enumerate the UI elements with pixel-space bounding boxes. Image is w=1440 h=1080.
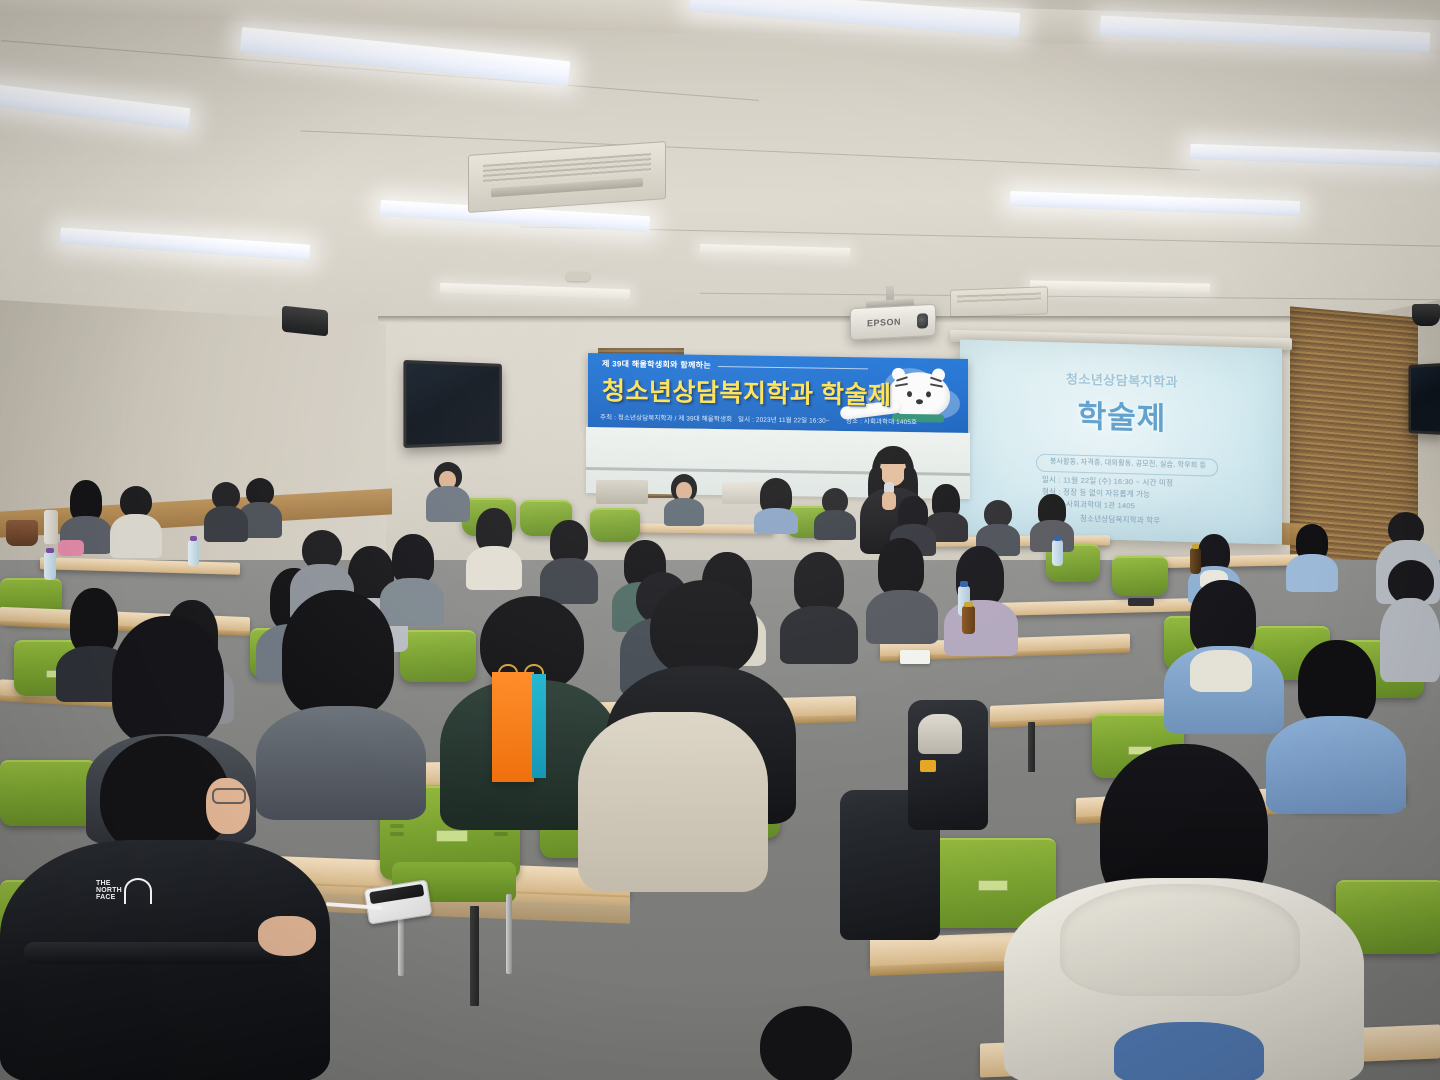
attendee-a3: [814, 488, 856, 538]
attendee-a2: [754, 478, 798, 532]
attendee-a12: [1286, 524, 1338, 590]
smoke-detector-icon: [566, 272, 590, 281]
attendee-l10: [540, 520, 598, 602]
attendee-c3: [866, 538, 938, 642]
attendee-foreground-northface: THENORTHFACE: [0, 736, 350, 1080]
attendee-bottom-center: [730, 1006, 880, 1080]
banner-top-line: 제 39대 해울학생회와 함께하는: [602, 358, 711, 371]
tumbler: [44, 510, 58, 544]
desk-leg-5: [470, 906, 479, 1006]
water-bottle-4: [44, 552, 56, 580]
gift-bag: [492, 664, 548, 784]
attendee-left-2: [110, 486, 162, 556]
ceiling-ac-unit-2: [950, 286, 1048, 317]
attendee-foreground-cream: [578, 672, 768, 892]
ceiling-speaker-left-icon: [282, 306, 328, 337]
banner-footer-place: 장소 : 사회과학대 1405호: [846, 415, 917, 426]
banner-footer-host: 주최 : 청소년상담복지학과 / 제 39대 해울학생회: [600, 411, 732, 423]
lecture-hall-photo: EPSON 청소년상담복지학과 학술제 봉사활동, 자격증, 대외활동, 공모전…: [0, 0, 1440, 1080]
event-banner: 제 39대 해울학생회와 함께하는 청소년상담복지학과 학술제 주최 : 청소년…: [588, 353, 968, 433]
chair-near-1-leg2: [506, 894, 512, 974]
banner-footer-date: 일시 : 2023년 11월 22일 16:30~: [738, 413, 830, 424]
hand: [258, 916, 316, 956]
attendee-c4: [944, 546, 1018, 654]
drink-bottle-2: [962, 606, 975, 634]
eyeglasses-icon: [212, 788, 246, 804]
slide-title: 학술제: [1002, 389, 1242, 441]
water-bottle-5: [188, 540, 199, 566]
water-bottle-3: [1052, 540, 1063, 566]
wall-monitor-left: [403, 360, 502, 448]
drink-bottle-6: [1190, 548, 1201, 574]
desk-item-white: [900, 650, 930, 664]
ceiling: [0, 0, 1440, 330]
desk-item-dark: [1128, 598, 1154, 606]
projector-brand-label: EPSON: [867, 317, 901, 329]
ceiling-speaker-icon: [1412, 304, 1440, 326]
pink-pouch: [58, 540, 84, 556]
attendee-l9: [466, 508, 522, 588]
projector: EPSON: [850, 304, 936, 341]
hoodie-graphic-print: [1114, 1022, 1264, 1080]
banner-main-title: 청소년상담복지학과 학술제: [602, 371, 891, 412]
backpack-2: [908, 700, 988, 830]
attendee-right-grey: [1380, 560, 1440, 680]
attendee-a8: [426, 462, 470, 520]
handbag: [6, 520, 38, 546]
podium: [596, 480, 648, 504]
attendee-a1: [664, 474, 704, 526]
attendee-a10: [204, 482, 248, 540]
hoodie-hood: [1060, 884, 1300, 996]
wall-monitor-right: [1409, 363, 1440, 435]
north-face-logo: THENORTHFACE: [96, 876, 152, 906]
chair-far-6: [1112, 556, 1168, 596]
